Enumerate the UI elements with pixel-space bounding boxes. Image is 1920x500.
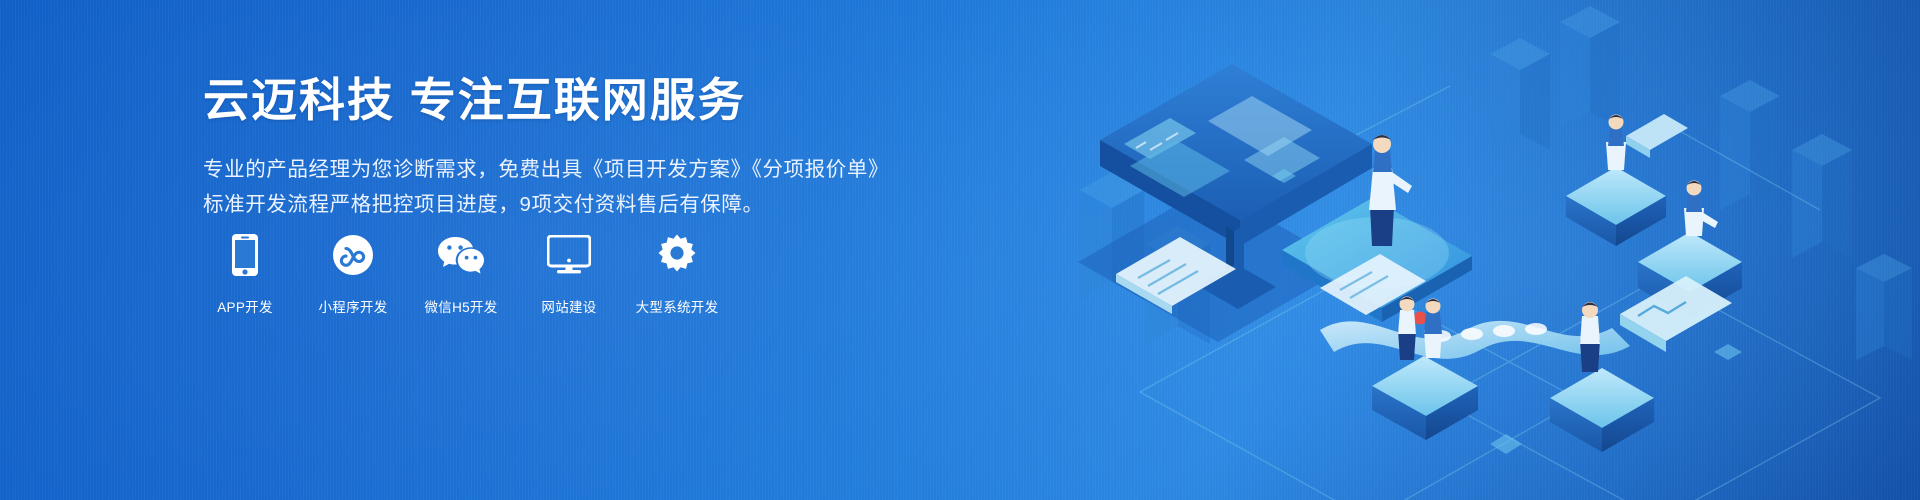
person-seated-upper <box>1606 115 1626 171</box>
service-list: APP开发 小程序开发 微信 <box>208 232 714 316</box>
hero-copy: 云迈科技 专注互联网服务 专业的产品经理为您诊断需求，免费出具《项目开发方案》《… <box>203 72 903 222</box>
service-label: 小程序开发 <box>319 296 388 316</box>
service-label: APP开发 <box>217 296 273 316</box>
person-walking-right <box>1684 181 1718 237</box>
subtitle-line-2: 标准开发流程严格把控项目进度，9项交付资料售后有保障。 <box>203 187 903 222</box>
pedestal-left <box>1372 356 1478 440</box>
service-item-website[interactable]: 网站建设 <box>532 232 606 316</box>
person-right-standing <box>1580 302 1600 372</box>
service-label: 微信H5开发 <box>424 296 497 316</box>
monitor-icon <box>547 232 591 278</box>
service-item-app[interactable]: APP开发 <box>208 232 282 316</box>
ui-card-right-top <box>1626 114 1688 158</box>
wechat-icon <box>437 232 485 278</box>
service-label: 大型系统开发 <box>636 296 719 316</box>
service-item-wechat-h5[interactable]: 微信H5开发 <box>424 232 498 316</box>
hero-subtitle: 专业的产品经理为您诊断需求，免费出具《项目开发方案》《分项报价单》 标准开发流程… <box>203 152 903 223</box>
gear-icon <box>656 232 698 278</box>
service-item-miniprogram[interactable]: 小程序开发 <box>316 232 390 316</box>
mobile-phone-icon <box>231 232 259 278</box>
subtitle-line-1: 专业的产品经理为您诊断需求，免费出具《项目开发方案》《分项报价单》 <box>203 152 903 187</box>
mini-program-icon <box>332 232 374 278</box>
isometric-illustration <box>1020 0 1920 500</box>
hero-banner: 云迈科技 专注互联网服务 专业的产品经理为您诊断需求，免费出具《项目开发方案》《… <box>0 0 1920 500</box>
service-label: 网站建设 <box>541 296 596 316</box>
page-title: 云迈科技 专注互联网服务 <box>203 72 903 130</box>
pedestal-right <box>1550 368 1654 452</box>
service-item-large-system[interactable]: 大型系统开发 <box>640 232 714 316</box>
server-block-upper <box>1566 167 1666 246</box>
